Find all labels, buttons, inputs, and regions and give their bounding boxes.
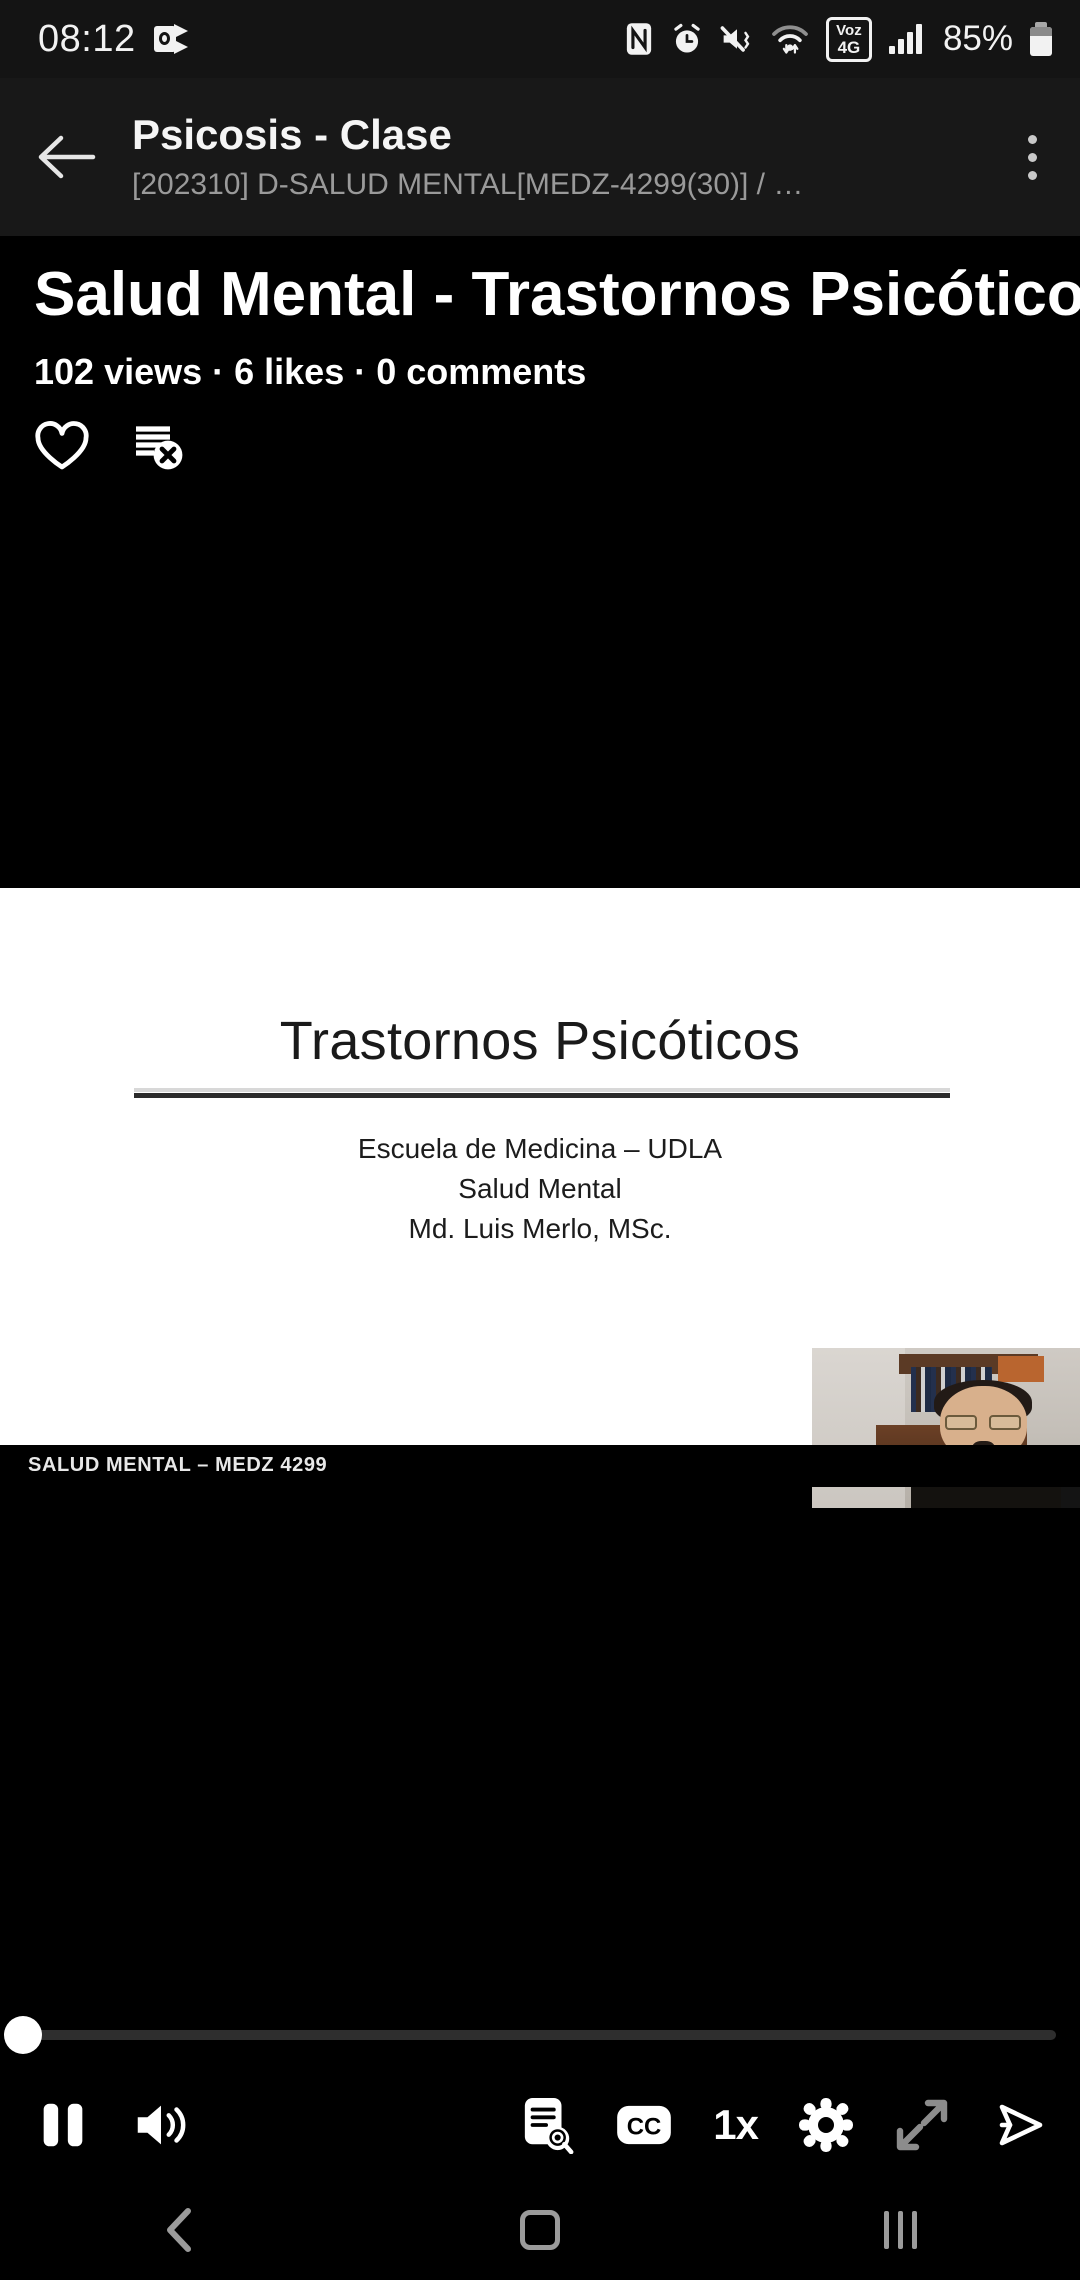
alarm-icon [671,23,703,55]
pause-button[interactable] [34,2096,92,2154]
phone-screen: 08:12 [0,0,1080,2280]
nav-back-button[interactable] [80,2180,280,2280]
status-bar-clock: 08:12 [38,18,136,61]
slide-footer: SALUD MENTAL – MEDZ 4299 [0,1445,1080,1487]
cast-icon [990,2097,1046,2153]
volume-icon [130,2097,192,2153]
volume-button[interactable] [130,2097,192,2153]
fullscreen-button[interactable] [894,2097,950,2153]
settings-gear-icon [798,2097,854,2153]
kebab-menu-icon [1028,135,1037,144]
mute-vibrate-icon [720,24,754,54]
progress-track[interactable] [24,2030,1056,2040]
app-header: Psicosis - Clase [202310] D-SALUD MENTAL… [0,78,1080,236]
presentation-slide: Trastornos Psicóticos Escuela de Medicin… [0,888,1080,1445]
transcript-search-icon [521,2096,575,2154]
cc-icon: CC [615,2102,673,2148]
settings-button[interactable] [798,2097,854,2153]
slide-title: Trastornos Psicóticos [0,1010,1080,1072]
header-text-block: Psicosis - Clase [202310] D-SALUD MENTAL… [132,111,984,203]
nfc-icon [624,22,654,56]
nav-back-icon [158,2207,202,2253]
player-controls: CC 1x [0,2070,1080,2180]
playback-speed-button[interactable]: 1x [713,2101,758,2149]
cast-button[interactable] [990,2097,1046,2153]
nav-recents-button[interactable] [800,2180,1000,2280]
slide-footer-label: SALUD MENTAL – MEDZ 4299 [28,1454,327,1477]
back-arrow-icon [35,132,97,182]
video-surface[interactable]: Trastornos Psicóticos Escuela de Medicin… [0,888,1080,1988]
video-info: Salud Mental - Trastornos Psicóticos 102… [0,236,1080,473]
slide-divider [134,1093,950,1098]
4g-label: 4G [833,39,865,56]
outlook-icon [154,24,188,54]
status-bar-system-icons: Voz 4G 85% [624,17,1052,62]
wifi-icon [771,23,809,55]
overflow-menu-button[interactable] [984,78,1080,236]
back-button[interactable] [0,78,132,236]
status-bar: 08:12 [0,0,1080,78]
android-nav-bar [0,2180,1080,2280]
slide-line-2: Salud Mental [0,1173,1080,1205]
battery-percent-label: 85% [943,19,1013,59]
slide-line-3: Md. Luis Merlo, MSc. [0,1213,1080,1245]
pause-icon [34,2096,92,2154]
progress-handle[interactable] [4,2016,42,2054]
expand-icon [894,2097,950,2153]
voz-label: Voz [833,23,865,38]
status-bar-notification-icons [154,24,188,54]
video-title: Salud Mental - Trastornos Psicóticos [34,260,1046,329]
signal-bars-icon [889,24,922,54]
transcript-search-button[interactable] [521,2096,575,2154]
heart-icon[interactable] [34,421,90,473]
comments-disabled-icon[interactable] [130,421,186,473]
nav-home-icon [520,2210,560,2250]
video-stats: 102 views · 6 likes · 0 comments [34,351,1046,393]
breadcrumb: [202310] D-SALUD MENTAL[MEDZ-4299(30)] /… [132,167,972,203]
slide-line-1: Escuela de Medicina – UDLA [0,1133,1080,1165]
voz-4g-icon: Voz 4G [826,17,872,62]
nav-recents-icon [884,2211,917,2249]
video-actions [34,421,1046,473]
video-progress-bar[interactable] [0,2030,1080,2040]
captions-button[interactable]: CC [615,2102,673,2148]
nav-home-button[interactable] [440,2180,640,2280]
battery-icon [1030,22,1052,56]
page-title: Psicosis - Clase [132,111,972,159]
svg-text:CC: CC [627,2114,662,2141]
